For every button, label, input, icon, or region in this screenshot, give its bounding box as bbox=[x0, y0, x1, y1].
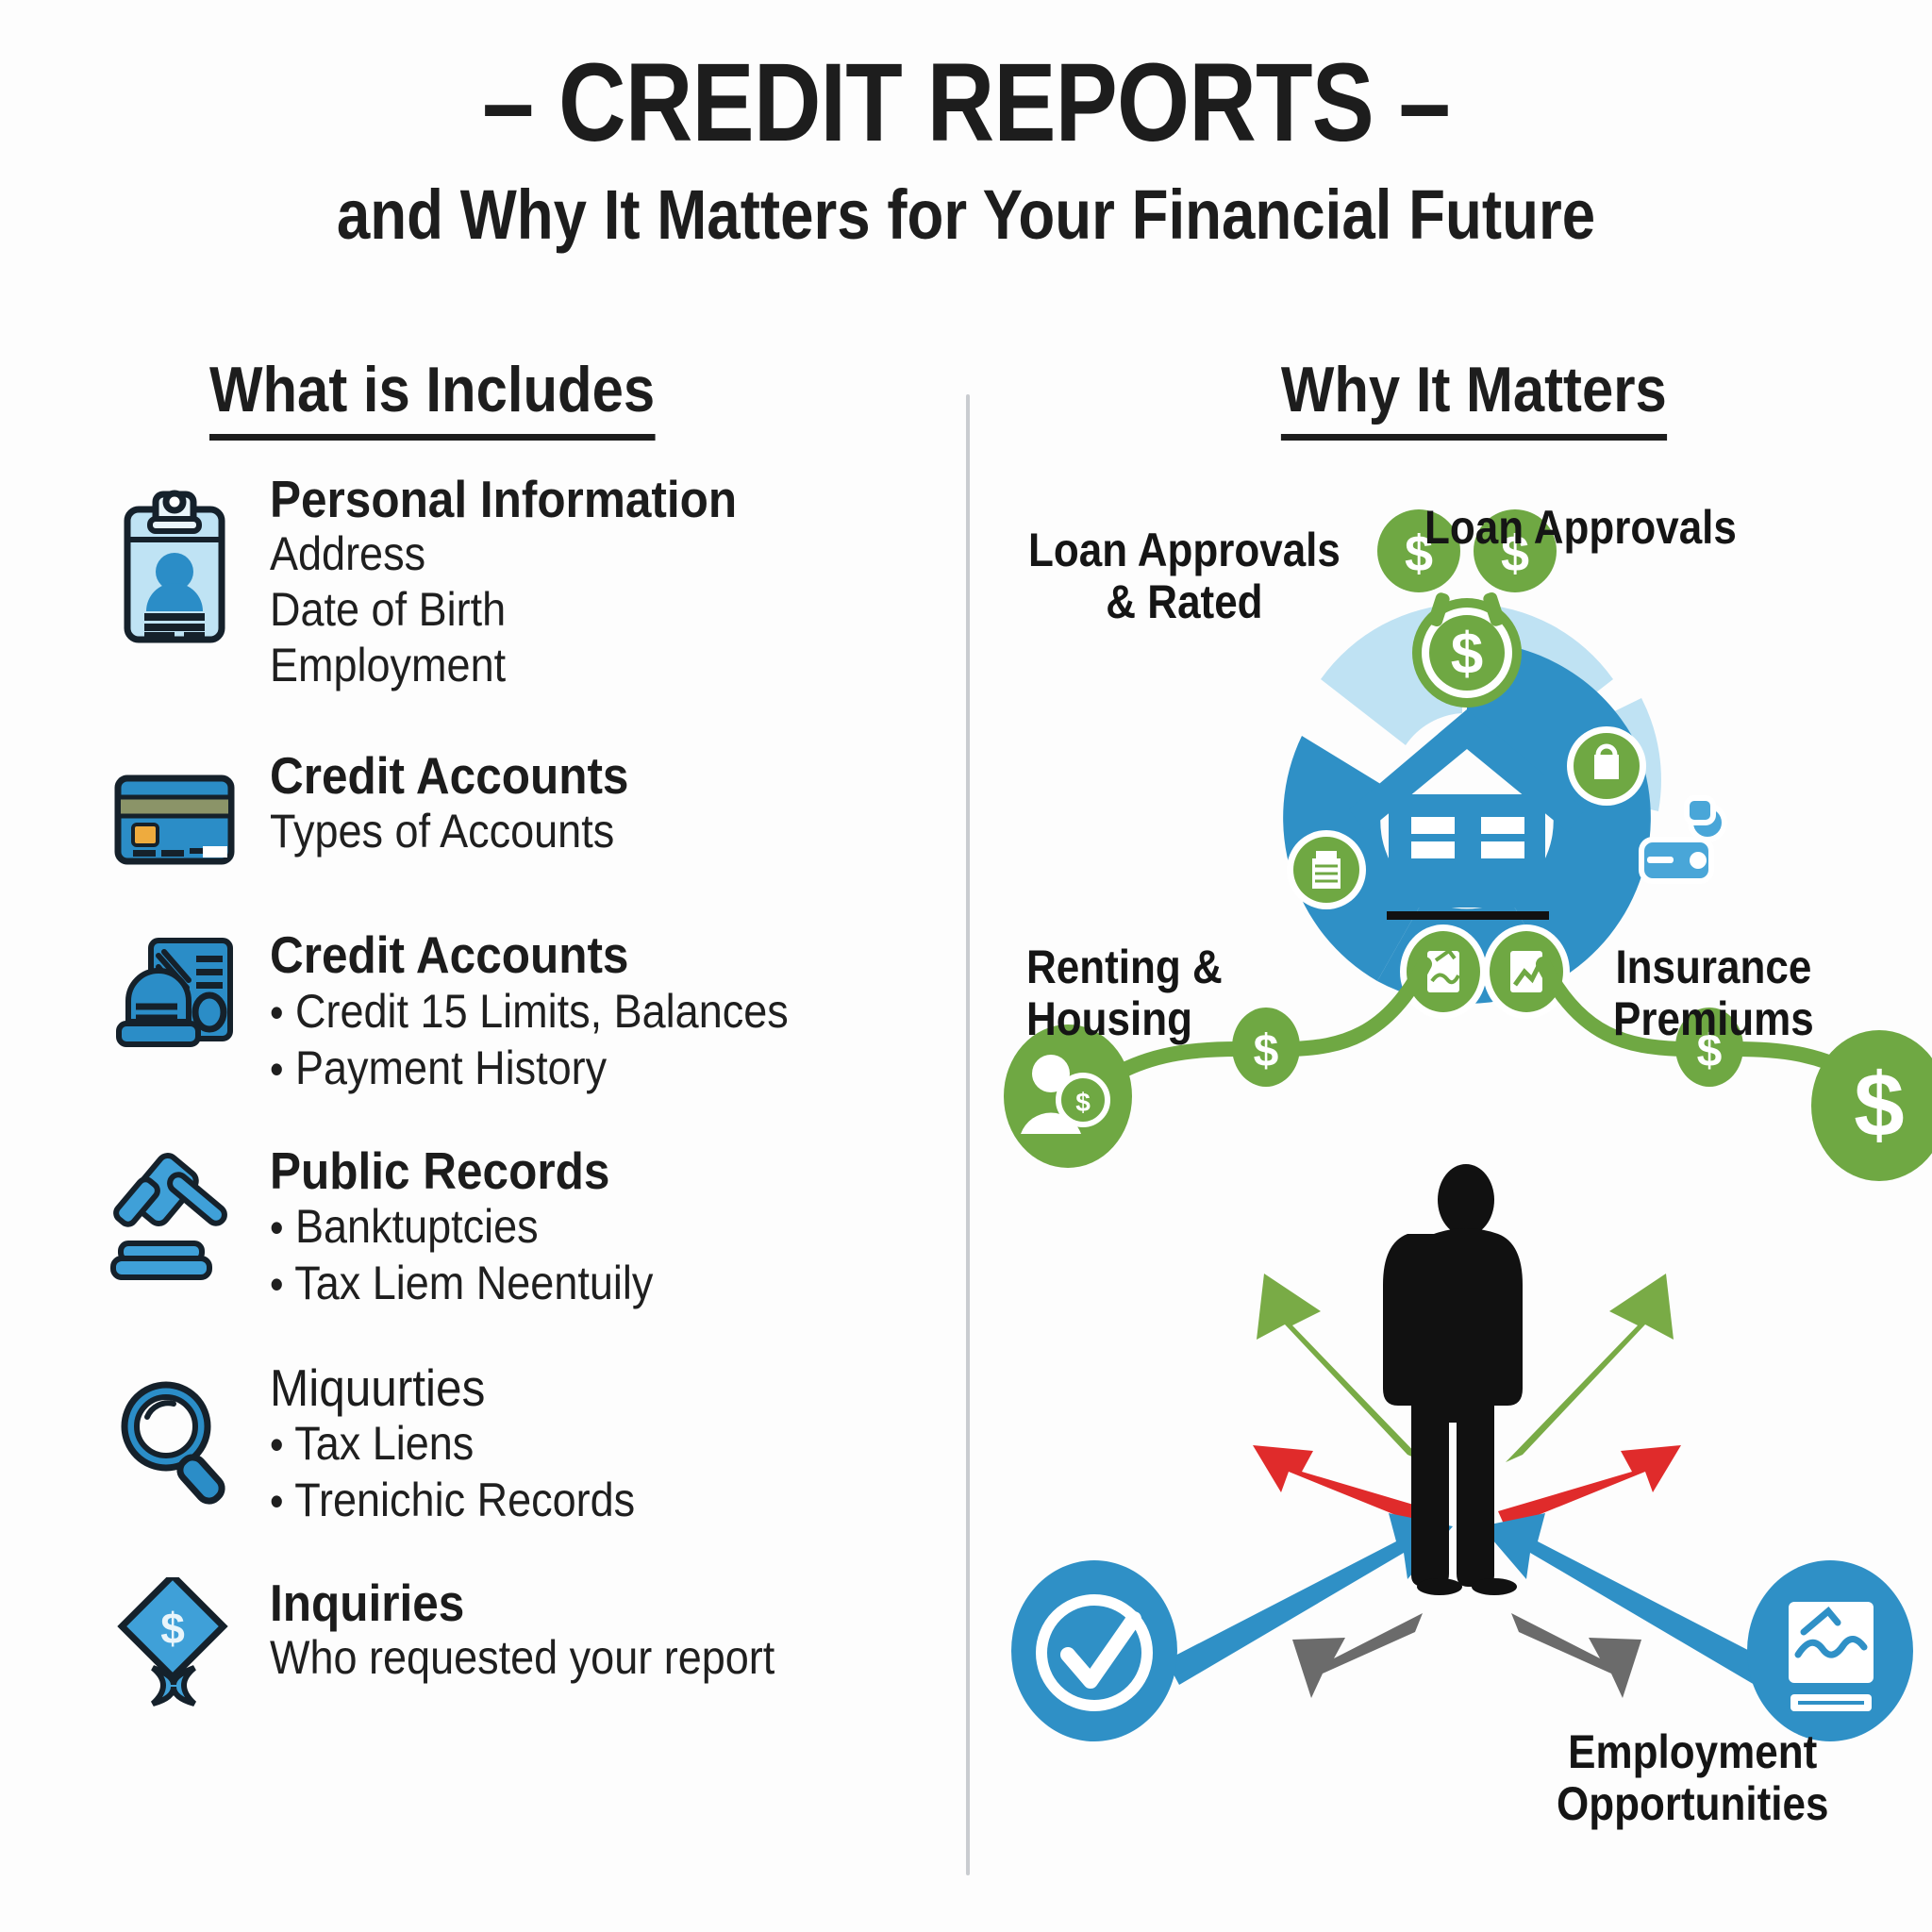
list-item-bullet-text: Tax Liem Neentuily bbox=[294, 1257, 653, 1309]
list-item-text: Miquurties • Tax Liens • Trenichic Recor… bbox=[270, 1358, 675, 1528]
big-dollar-coin-icon: $ bbox=[1412, 598, 1522, 708]
list-item-text: Personal Information Address Date of Bir… bbox=[270, 470, 789, 693]
list-item-line: Who requested your report bbox=[270, 1630, 774, 1686]
svg-text:$: $ bbox=[1451, 622, 1483, 687]
list-item-bullet-text: Trenichic Records bbox=[294, 1474, 635, 1526]
page-title: – CREDIT REPORTS – bbox=[155, 45, 1777, 161]
label-line: Opportunities bbox=[1557, 1778, 1828, 1830]
gavel-icon bbox=[104, 1141, 245, 1281]
signed-contract-icon bbox=[1747, 1560, 1913, 1741]
list-item: Personal Information Address Date of Bir… bbox=[104, 470, 953, 693]
list-item-bullet: • Payment History bbox=[270, 1040, 789, 1096]
list-item-bullet-text: Banktuptcies bbox=[295, 1200, 539, 1253]
list-item-line: Types of Accounts bbox=[270, 804, 628, 859]
label-loan-approvals-rated: Loan Approvals & Rated bbox=[1028, 525, 1341, 628]
svg-text:$: $ bbox=[1854, 1055, 1904, 1156]
shopping-bag-icon bbox=[1567, 726, 1646, 806]
dollar-diamond-icon: $ bbox=[104, 1574, 245, 1709]
list-item-text: Credit Accounts Types of Accounts bbox=[270, 746, 669, 858]
magnifier-icon bbox=[104, 1358, 245, 1507]
why-it-matters-diagram: $ $ $ bbox=[981, 443, 1932, 1915]
red-arrow-right bbox=[1498, 1445, 1681, 1528]
list-item-title: Credit Accounts bbox=[270, 748, 628, 803]
id-badge-icon bbox=[104, 470, 245, 649]
list-item-title: Inquiries bbox=[270, 1575, 774, 1630]
label-line: Employment bbox=[1557, 1726, 1828, 1778]
list-item: Public Records • Banktuptcies • Tax Liem… bbox=[104, 1141, 953, 1311]
list-item-text: Public Records • Banktuptcies • Tax Liem… bbox=[270, 1141, 696, 1311]
list-item-bullet: • Trenichic Records bbox=[270, 1472, 635, 1528]
list-item-bullet-text: Tax Liens bbox=[294, 1417, 474, 1470]
list-item-line: Date of Birth bbox=[270, 582, 737, 638]
red-arrow-left bbox=[1253, 1445, 1436, 1528]
node-dollar-small: $ bbox=[1232, 1008, 1300, 1087]
label-line: & Rated bbox=[1028, 576, 1341, 628]
green-arrow-up-right bbox=[1506, 1274, 1674, 1462]
list-item: Credit Accounts • Credit 15 Limits, Bala… bbox=[104, 925, 953, 1095]
checkmark-icon bbox=[1011, 1560, 1177, 1741]
svg-text:$: $ bbox=[160, 1604, 185, 1653]
employment-arrows-graphic bbox=[981, 1160, 1932, 1745]
title-block: – CREDIT REPORTS – and Why It Matters fo… bbox=[0, 45, 1932, 255]
label-loan-approvals: Loan Approvals bbox=[1424, 502, 1737, 554]
credit-card-icon bbox=[104, 746, 245, 869]
list-item-bullet: • Tax Liem Neentuily bbox=[270, 1255, 653, 1311]
label-renting-housing: Renting & Housing bbox=[1026, 941, 1223, 1045]
renting-housing-icon: $ bbox=[1004, 1024, 1132, 1168]
list-item-title: Public Records bbox=[270, 1143, 653, 1198]
label-employment-opportunities: Employment Opportunities bbox=[1557, 1726, 1828, 1830]
list-item-bullet-text: Payment History bbox=[295, 1041, 607, 1094]
list-item-bullet: • Credit 15 Limits, Balances bbox=[270, 983, 789, 1040]
infographic-canvas: – CREDIT REPORTS – and Why It Matters fo… bbox=[0, 0, 1932, 1932]
gray-arrow-down-right bbox=[1511, 1613, 1641, 1698]
section-heading-left: What is Includes bbox=[209, 353, 655, 441]
list-item-title: Credit Accounts bbox=[270, 927, 789, 982]
svg-text:$: $ bbox=[1254, 1026, 1279, 1076]
label-line: Insurance bbox=[1613, 941, 1814, 993]
label-insurance-premiums: Insurance Premiums bbox=[1613, 941, 1814, 1045]
label-line: Housing bbox=[1026, 993, 1223, 1045]
what-is-included-list: Personal Information Address Date of Bir… bbox=[104, 470, 953, 1709]
list-item-text: Inquiries Who requested your report bbox=[270, 1574, 831, 1686]
list-item-bullet: • Tax Liens bbox=[270, 1415, 635, 1472]
list-item-line: Address bbox=[270, 526, 737, 582]
list-item-title: Miquurties bbox=[270, 1360, 635, 1415]
list-item-bullet-text: Credit 15 Limits, Balances bbox=[295, 985, 789, 1038]
label-line: Loan Approvals bbox=[1028, 525, 1341, 576]
list-item-line: Employment bbox=[270, 638, 737, 693]
list-item: $ Inquiries Who requested your report bbox=[104, 1574, 953, 1709]
stamped-document-icon bbox=[104, 925, 245, 1063]
list-item-text: Credit Accounts • Credit 15 Limits, Bala… bbox=[270, 925, 846, 1095]
list-item-title: Personal Information bbox=[270, 472, 737, 526]
svg-text:$: $ bbox=[1075, 1088, 1091, 1117]
page-subtitle: and Why It Matters for Your Financial Fu… bbox=[135, 176, 1796, 255]
list-item: Credit Accounts Types of Accounts bbox=[104, 746, 953, 869]
car-keys-icon bbox=[1641, 798, 1724, 881]
column-divider bbox=[966, 394, 970, 1875]
gray-arrow-down-left bbox=[1292, 1613, 1423, 1698]
list-item-bullet: • Banktuptcies bbox=[270, 1198, 653, 1255]
label-line: Renting & bbox=[1026, 941, 1223, 993]
section-heading-left-text: What is Includes bbox=[209, 353, 655, 441]
label-line: Premiums bbox=[1613, 993, 1814, 1045]
list-item: Miquurties • Tax Liens • Trenichic Recor… bbox=[104, 1358, 953, 1528]
insurance-premiums-icon: $ bbox=[1811, 1030, 1932, 1181]
